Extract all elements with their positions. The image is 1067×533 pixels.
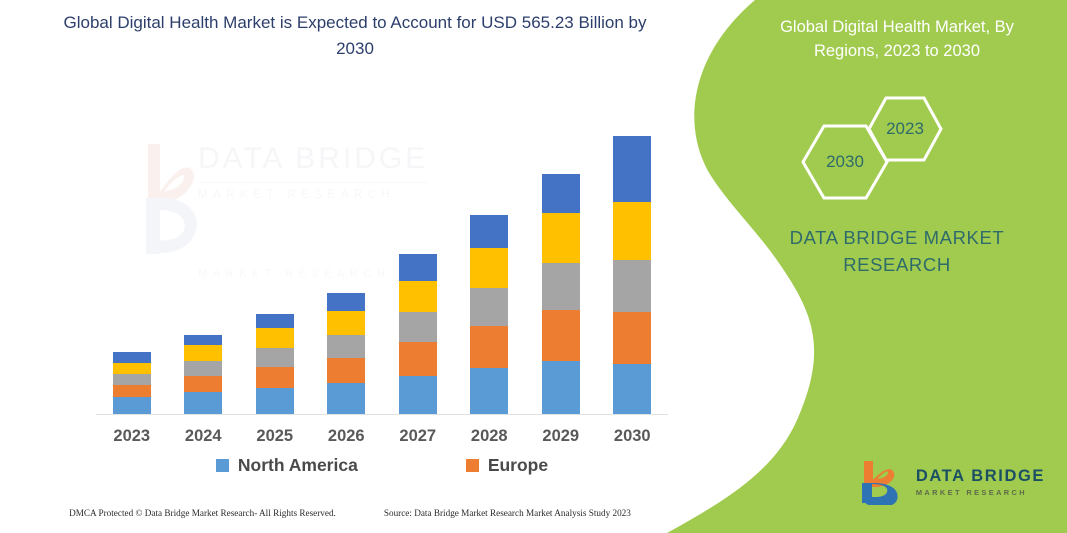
x-axis-label-2025: 2025	[239, 427, 311, 446]
stacked-bar-2029[interactable]	[542, 174, 580, 414]
panel-brand: DATA BRIDGE MARKET RESEARCH	[747, 225, 1047, 279]
bar-segment-europe[interactable]	[113, 385, 151, 397]
bar-segment-north-america[interactable]	[542, 361, 580, 414]
hexagon-2023-label: 2023	[886, 119, 924, 139]
stacked-bar-2027[interactable]	[399, 254, 437, 414]
bar-segment-south-america[interactable]	[113, 363, 151, 374]
footer-copyright: DMCA Protected © Data Bridge Market Rese…	[69, 508, 336, 518]
bar-segment-middle-east-and-africa[interactable]	[613, 136, 651, 202]
bar-segment-europe[interactable]	[399, 342, 437, 376]
bar-segment-south-america[interactable]	[327, 311, 365, 335]
bar-slot	[239, 120, 311, 414]
x-axis-label-2026: 2026	[311, 427, 383, 446]
bar-slot	[382, 120, 454, 414]
chart-legend: North AmericaEurope	[96, 455, 668, 476]
bar-segment-europe[interactable]	[613, 312, 651, 364]
bar-segment-north-america[interactable]	[184, 392, 222, 414]
bar-segment-asia-pacific[interactable]	[327, 335, 365, 358]
bar-segment-north-america[interactable]	[613, 364, 651, 414]
bar-segment-middle-east-and-africa[interactable]	[327, 293, 365, 311]
stacked-bar-2025[interactable]	[256, 314, 294, 414]
stacked-bar-2023[interactable]	[113, 352, 151, 414]
bar-segment-south-america[interactable]	[542, 213, 580, 263]
legend-swatch-icon	[216, 459, 229, 472]
x-axis-label-2027: 2027	[382, 427, 454, 446]
bar-segment-asia-pacific[interactable]	[613, 260, 651, 312]
x-axis-label-2030: 2030	[597, 427, 669, 446]
brand-logo: DATA BRIDGE MARKET RESEARCH	[860, 459, 1045, 505]
bar-segment-north-america[interactable]	[113, 397, 151, 414]
bar-slot	[454, 120, 526, 414]
bar-segment-south-america[interactable]	[470, 248, 508, 288]
stacked-bar-2028[interactable]	[470, 215, 508, 414]
bar-segment-middle-east-and-africa[interactable]	[542, 174, 580, 213]
bar-slot	[311, 120, 383, 414]
data-bridge-logo-icon	[860, 459, 904, 505]
hexagon-group: 2023 2030	[782, 95, 1042, 200]
bar-segment-middle-east-and-africa[interactable]	[113, 352, 151, 363]
legend-item-north-america[interactable]: North America	[216, 455, 358, 476]
bar-segment-europe[interactable]	[184, 376, 222, 392]
bar-segment-middle-east-and-africa[interactable]	[470, 215, 508, 248]
logo-text: DATA BRIDGE MARKET RESEARCH	[916, 468, 1045, 496]
footer-source: Source: Data Bridge Market Research Mark…	[384, 508, 631, 518]
bar-slot	[525, 120, 597, 414]
bar-segment-europe[interactable]	[256, 367, 294, 387]
bar-segment-asia-pacific[interactable]	[399, 312, 437, 342]
stacked-bar-2024[interactable]	[184, 335, 222, 414]
legend-label: North America	[238, 455, 358, 476]
footer: DMCA Protected © Data Bridge Market Rese…	[0, 508, 700, 518]
green-side-panel: Global Digital Health Market, By Regions…	[667, 0, 1067, 533]
bar-segment-asia-pacific[interactable]	[184, 361, 222, 376]
legend-item-europe[interactable]: Europe	[466, 455, 548, 476]
bar-segment-europe[interactable]	[327, 358, 365, 383]
hexagon-2030: 2030	[800, 123, 890, 201]
logo-line1: DATA BRIDGE	[916, 468, 1045, 485]
bar-slot	[96, 120, 168, 414]
bar-segment-north-america[interactable]	[399, 376, 437, 414]
x-axis-line	[96, 414, 668, 415]
logo-line2: MARKET RESEARCH	[916, 489, 1045, 496]
bar-segment-europe[interactable]	[470, 326, 508, 368]
bar-segment-north-america[interactable]	[470, 368, 508, 414]
bar-segment-south-america[interactable]	[399, 281, 437, 312]
stacked-bar-2030[interactable]	[613, 136, 651, 414]
legend-swatch-icon	[466, 459, 479, 472]
x-axis-label-2029: 2029	[525, 427, 597, 446]
x-axis-labels: 20232024202520262027202820292030	[96, 427, 668, 446]
bar-segment-south-america[interactable]	[256, 328, 294, 348]
bar-segment-north-america[interactable]	[327, 383, 365, 414]
infographic-root: Global Digital Health Market is Expected…	[0, 0, 1067, 533]
bar-group	[96, 120, 668, 414]
chart-panel: Global Digital Health Market is Expected…	[0, 0, 700, 533]
bar-segment-middle-east-and-africa[interactable]	[399, 254, 437, 281]
bar-segment-south-america[interactable]	[613, 202, 651, 260]
bar-segment-middle-east-and-africa[interactable]	[184, 335, 222, 345]
x-axis-label-2023: 2023	[96, 427, 168, 446]
bar-segment-asia-pacific[interactable]	[470, 288, 508, 326]
bar-segment-asia-pacific[interactable]	[542, 263, 580, 310]
chart-title: Global Digital Health Market is Expected…	[60, 10, 650, 61]
x-axis-label-2028: 2028	[454, 427, 526, 446]
stacked-bar-2026[interactable]	[327, 293, 365, 414]
bar-segment-south-america[interactable]	[184, 345, 222, 361]
bar-segment-north-america[interactable]	[256, 388, 294, 414]
plot-area	[96, 120, 668, 415]
hexagon-2030-label: 2030	[826, 152, 864, 172]
bar-slot	[597, 120, 669, 414]
bar-segment-europe[interactable]	[542, 310, 580, 361]
panel-title: Global Digital Health Market, By Regions…	[747, 16, 1047, 64]
bar-segment-asia-pacific[interactable]	[256, 348, 294, 367]
bar-segment-middle-east-and-africa[interactable]	[256, 314, 294, 328]
bar-segment-asia-pacific[interactable]	[113, 374, 151, 385]
bar-slot	[168, 120, 240, 414]
x-axis-label-2024: 2024	[168, 427, 240, 446]
legend-label: Europe	[488, 455, 548, 476]
